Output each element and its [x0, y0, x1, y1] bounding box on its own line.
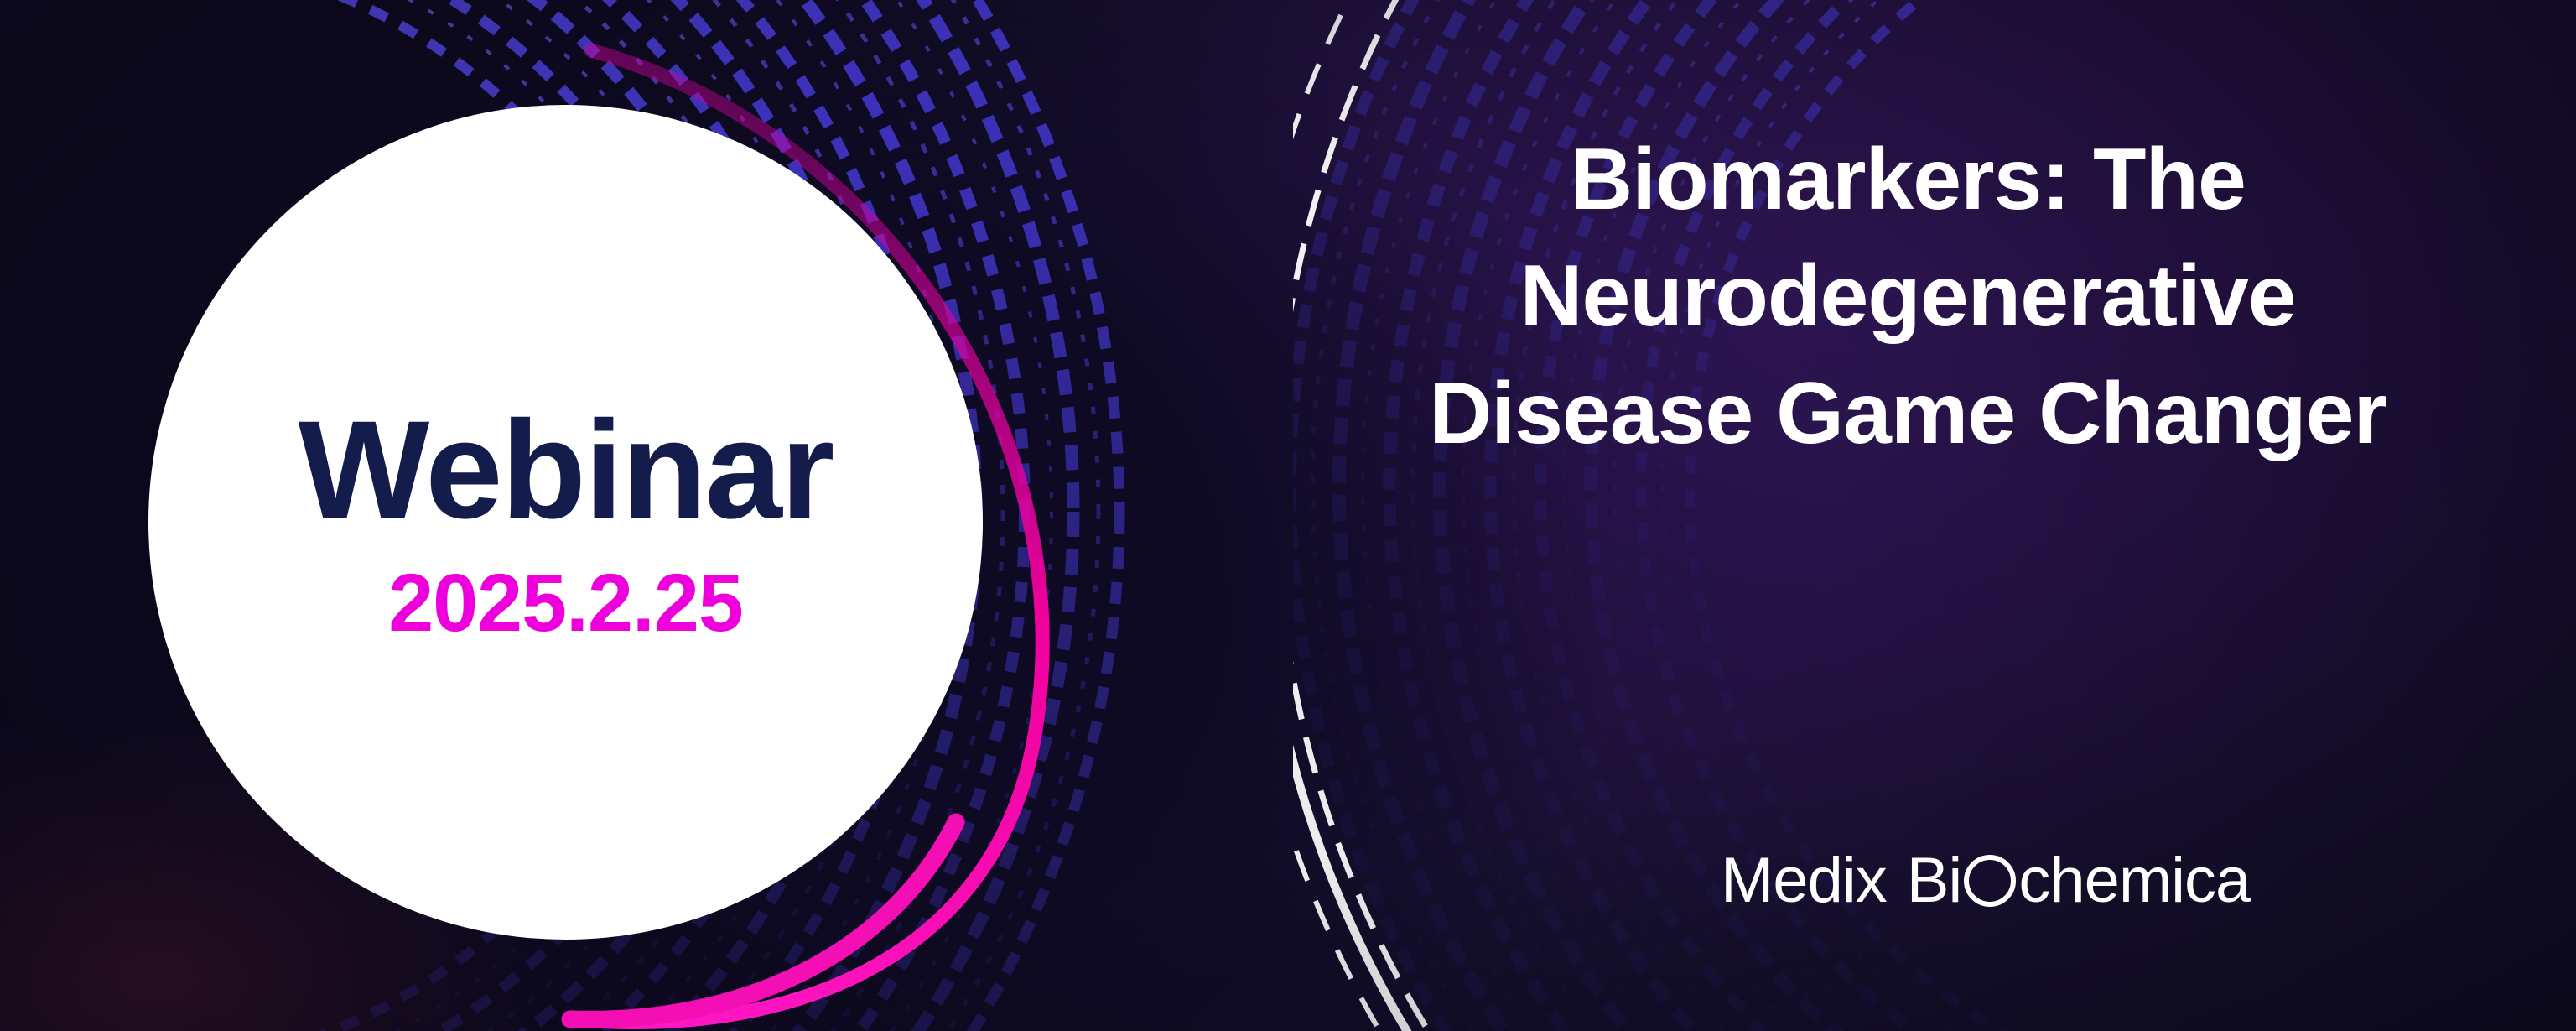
page-title: Biomarkers: The Neurodegenerative Diseas… — [1308, 122, 2507, 472]
medix-biochemica-logo: Medix Bi chemica — [1721, 849, 2250, 913]
webinar-banner: Webinar 2025.2.25 Biomarkers: The Neurod… — [0, 0, 2576, 1031]
logo-word-medix: Medix — [1721, 849, 1887, 913]
logo-circle-o-icon — [1964, 855, 2016, 907]
webinar-badge-title: Webinar — [299, 401, 834, 540]
webinar-badge-date: 2025.2.25 — [388, 562, 743, 643]
webinar-badge-circle: Webinar 2025.2.25 — [148, 105, 983, 940]
logo-word-bi: Bi — [1907, 849, 1962, 913]
logo-word-chemica: chemica — [2018, 849, 2250, 913]
